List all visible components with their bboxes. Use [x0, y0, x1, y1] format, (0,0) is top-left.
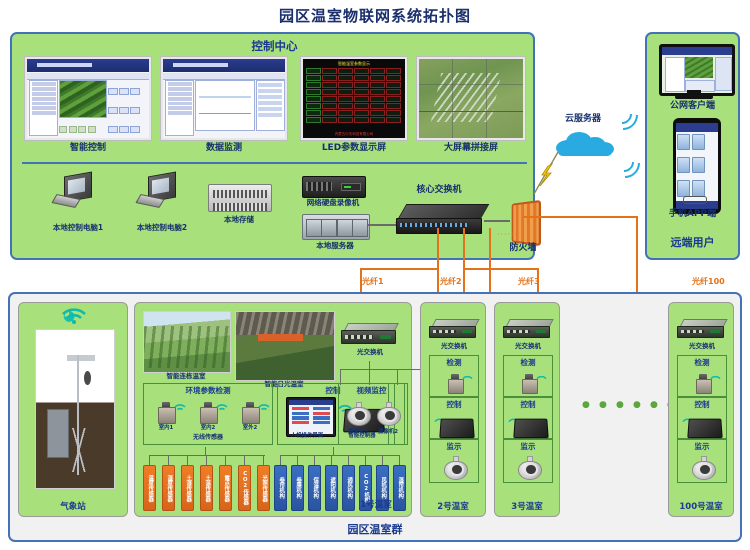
mobile-app-label: 手机APP端: [647, 210, 738, 220]
control-center-title: 控制中心: [12, 38, 537, 54]
video-wall-label: 大屏幕拼接屏: [416, 144, 526, 154]
firewall-icon[interactable]: [512, 200, 541, 246]
smart-controller-icon[interactable]: [439, 419, 474, 439]
greenhouse-1-section-video: 视频监控 摄像机1 摄像机2: [338, 383, 405, 445]
phone-home-button: [683, 196, 707, 204]
greenhouse-100-detect-title: 检测: [678, 356, 726, 368]
greenhouse-100-section-control: 控制: [677, 397, 727, 439]
greenhouse-3-section-monitor: 监示: [503, 439, 553, 483]
public-client-monitor-icon[interactable]: [659, 44, 735, 96]
greenhouse-2-section-detect: 检测: [429, 355, 479, 397]
fiber-line-3: [489, 228, 491, 292]
fiber-line-2: [463, 228, 465, 292]
core-switch-icon[interactable]: [396, 204, 484, 234]
greenhouse-1-section-environment: 环境参数检测 室内1 室内2 室外2 无线传感器: [143, 383, 273, 445]
local-server-icon[interactable]: [302, 214, 370, 240]
fiber-drop-1: [437, 268, 439, 292]
fiber-branch-1: [360, 268, 438, 270]
greenhouse-3-label: 3号温室: [495, 500, 559, 512]
page-title: 园区温室物联网系统拓扑图: [0, 5, 750, 26]
connector-switch-firewall: [484, 220, 510, 222]
greenhouse-1-photo-connected-label: 智能连栋温室: [137, 373, 235, 380]
greenhouse-100-optical-switch-label: 光交换机: [669, 343, 735, 350]
hmi-panel-label: 人机操作界面: [278, 434, 336, 440]
public-client-label: 公网客户端: [647, 102, 738, 112]
greenhouse-3-section-control: 控制: [503, 397, 553, 439]
wifi-icon: [174, 398, 186, 417]
greenhouse-100-control-title: 控制: [678, 398, 726, 410]
greenhouse-2-optical-switch-label: 光交换机: [421, 343, 487, 350]
greenhouse-3-optical-switch-icon[interactable]: [503, 319, 551, 339]
fiber-label-2: 光纤2: [440, 276, 462, 287]
led-display-label: LED参数显示屏: [300, 144, 408, 154]
greenhouse-2-detect-title: 检测: [430, 356, 478, 368]
remote-user-title: 远端用户: [647, 234, 738, 250]
smart-controller-icon[interactable]: [513, 419, 548, 439]
greenhouse-100-section-detect: 检测: [677, 355, 727, 397]
sensor-node-1-label: 室内1: [148, 426, 184, 432]
greenhouse-1-section-environment-title: 环境参数检测: [144, 384, 272, 396]
greenhouse-1-label: 1号温室: [345, 498, 407, 510]
sensor-box[interactable]: 露点传感器: [219, 465, 232, 511]
greenhouse-3-detect-title: 检测: [504, 356, 552, 368]
greenhouse-100-monitor-title: 监示: [678, 440, 726, 452]
sensor-node-2-label: 室内2: [190, 426, 226, 432]
greenhouse-1-photo-sunlight: [235, 311, 335, 381]
greenhouse-cluster-panel: ◕ 气象站 智能连栋温室 智能日光温室 光交换机: [8, 292, 742, 542]
greenhouse-1-panel: 智能连栋温室 智能日光温室 光交换机 环境参数检测 室内1 室内2 室外2 无线…: [134, 302, 412, 517]
greenhouse-3-optical-switch-label: 光交换机: [495, 343, 561, 350]
greenhouse-1-optical-switch-label: 光交换机: [341, 349, 399, 356]
camera-1-icon[interactable]: [347, 402, 369, 426]
firewall-label: 防火墙: [498, 244, 548, 254]
screenshot-data-monitor[interactable]: [160, 56, 288, 141]
fiber-ellipsis: ······: [497, 230, 518, 239]
remote-user-panel: 公网客户端 手机APP端 远端用户: [645, 32, 740, 260]
camera-2-label: 摄像机2: [369, 430, 407, 436]
local-control-pc-1-icon[interactable]: [54, 174, 98, 208]
greenhouse-2-control-title: 控制: [430, 398, 478, 410]
sensor-box[interactable]: 温度传感器: [143, 465, 156, 511]
fiber-label-100: 光纤100: [692, 276, 725, 287]
smart-controller-icon[interactable]: [687, 419, 722, 439]
actuator-box[interactable]: 保温机构: [308, 465, 321, 511]
wifi-icon: [216, 398, 228, 417]
wifi-icon: [536, 369, 547, 388]
greenhouse-1-photo-connected: [143, 311, 231, 373]
video-wall-screen[interactable]: [416, 56, 526, 141]
hmi-panel-icon[interactable]: [286, 397, 336, 437]
wifi-icon: [710, 369, 721, 388]
greenhouse-100-optical-switch-icon[interactable]: [677, 319, 725, 339]
control-center-panel: 控制中心 智能控制 数据监测 智能温室参数显示: [10, 32, 535, 260]
camera-2-icon[interactable]: [377, 402, 399, 426]
greenhouse-ellipsis: ● ● ● ● ● ●: [582, 400, 678, 410]
greenhouse-100-panel: 光交换机 检测 控制 监示 100号温室: [668, 302, 734, 517]
monitor-base: [675, 95, 713, 99]
sensor-box[interactable]: 土温传感器: [200, 465, 213, 511]
sensor-box[interactable]: 土湿传感器: [181, 465, 194, 511]
fiber-label-3: 光纤3: [518, 276, 540, 287]
weather-station-panel: ◕ 气象站: [18, 302, 128, 517]
camera-icon[interactable]: [444, 456, 466, 480]
greenhouse-3-control-title: 控制: [504, 398, 552, 410]
screenshot-data-monitor-label: 数据监测: [160, 144, 288, 154]
cluster-title: 园区温室群: [10, 521, 740, 537]
greenhouse-3-monitor-title: 监示: [504, 440, 552, 452]
fiber-line-100: [636, 216, 638, 292]
actuator-box[interactable]: 卷膜机构: [291, 465, 304, 511]
greenhouse-2-section-monitor: 监示: [429, 439, 479, 483]
cloud-server-icon: [552, 128, 618, 156]
local-control-pc-2-icon[interactable]: [138, 174, 182, 208]
greenhouse-100-section-monitor: 监示: [677, 439, 727, 483]
weather-station-label: 气象站: [19, 500, 127, 512]
sensor-box[interactable]: 湿度传感器: [162, 465, 175, 511]
camera-icon[interactable]: [692, 456, 714, 480]
sensor-box[interactable]: CO2传感器: [238, 465, 251, 511]
connector-server-switch: [368, 224, 396, 226]
greenhouse-100-label: 100号温室: [669, 500, 733, 512]
greenhouse-2-label: 2号温室: [421, 500, 485, 512]
local-storage-icon[interactable]: [208, 184, 272, 212]
core-switch-label: 核心交换机: [394, 186, 484, 196]
led-display-board[interactable]: 智能温室参数显示 内蒙古中天科技有限公司: [300, 56, 408, 141]
fiber-branch-3: [463, 268, 539, 270]
greenhouse-1-optical-switch-icon[interactable]: [341, 323, 397, 345]
greenhouse-2-optical-switch-icon[interactable]: [429, 319, 477, 339]
screenshot-smart-control-label: 智能控制: [24, 144, 152, 154]
screenshot-smart-control[interactable]: [24, 56, 152, 141]
fiber-branch-100: [524, 216, 638, 218]
wifi-icon: [258, 398, 270, 417]
fiber-label-1: 光纤1: [362, 276, 384, 287]
greenhouse-2-monitor-title: 监示: [430, 440, 478, 452]
actuator-box[interactable]: 卷帘机构: [274, 465, 287, 511]
lightning-link-icon: [530, 150, 560, 198]
greenhouse-3-section-detect: 检测: [503, 355, 553, 397]
local-control-pc-2-label: 本地控制电脑2: [112, 224, 212, 232]
sensor-node-3-label: 室外2: [232, 426, 268, 432]
sensor-box[interactable]: 光照传感器: [257, 465, 270, 511]
greenhouse-3-panel: 光交换机 检测 控制 监示 3号温室: [494, 302, 560, 517]
greenhouse-2-section-control: 控制: [429, 397, 479, 439]
local-server-label: 本地服务器: [294, 242, 376, 250]
actuator-box[interactable]: 遮阳机构: [325, 465, 338, 511]
nvr-icon[interactable]: [302, 176, 366, 198]
greenhouse-2-panel: 光交换机 检测 控制 监示 2号温室: [420, 302, 486, 517]
camera-icon[interactable]: [518, 456, 540, 480]
wireless-sensor-group-label: 无线传感器: [144, 435, 272, 442]
wifi-icon: [462, 369, 473, 388]
wifi-signal-icon: [61, 308, 87, 324]
greenhouse-1-section-video-title: 视频监控: [339, 384, 404, 396]
weather-station-photo: [35, 329, 115, 489]
local-storage-label: 本地存储: [202, 216, 276, 224]
nvr-label: 网络硬盘录像机: [290, 199, 376, 207]
